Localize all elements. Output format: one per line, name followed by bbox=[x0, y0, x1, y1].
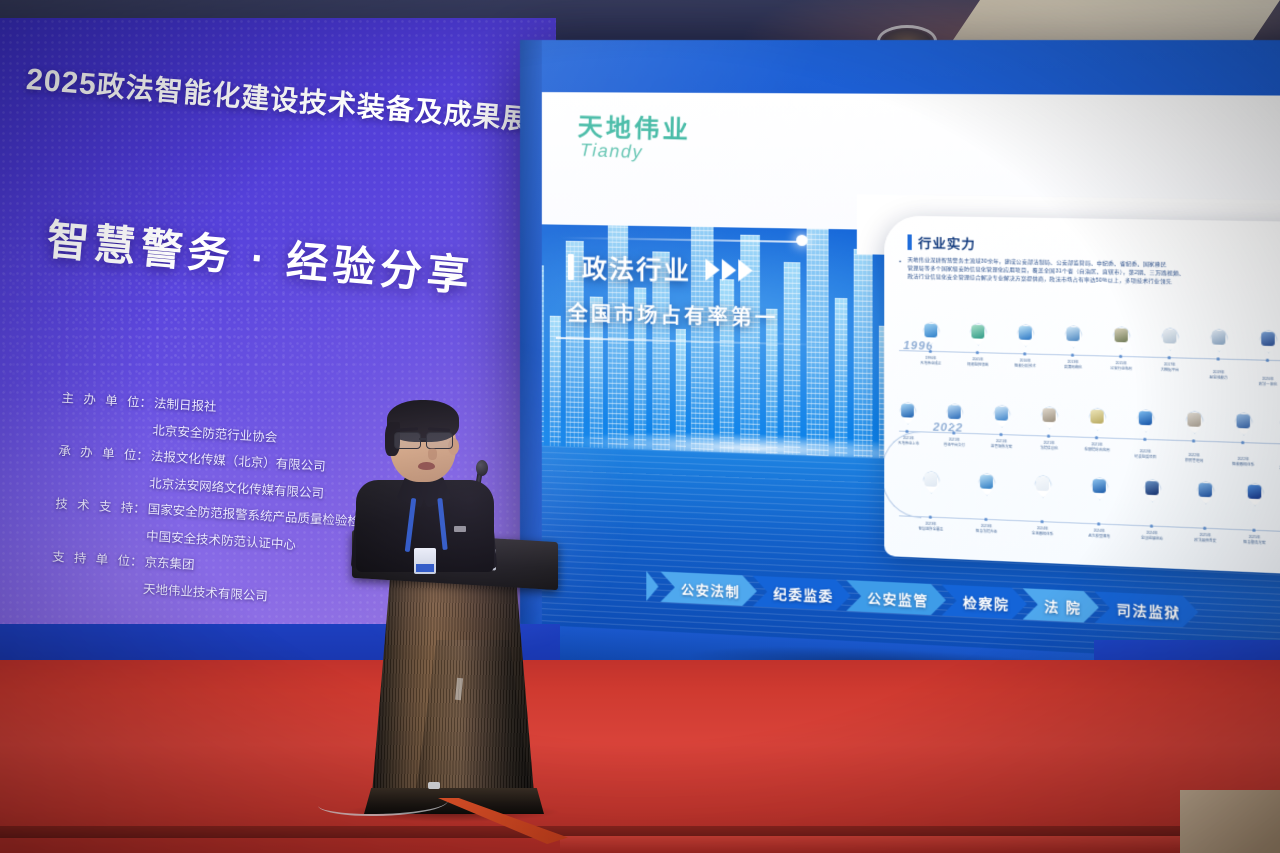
tab-jianchayuan[interactable]: 检察院 bbox=[942, 584, 1027, 619]
credit-value: 法报文化传媒（北京）有限公司 bbox=[150, 450, 325, 473]
podium-body bbox=[372, 580, 534, 794]
credit-row: 技术支持 ： 国家安全防范报警系统产品质量检验检测中心 中国安全技术防范认证中心 bbox=[53, 498, 385, 557]
floor-corner bbox=[1180, 790, 1280, 853]
credit-value: 北京安全防范行业协会 bbox=[152, 424, 278, 444]
tab-sifa-jianyu[interactable]: 司法监狱 bbox=[1095, 592, 1199, 629]
heading-accent-dot-icon bbox=[796, 235, 807, 246]
event-year: 2025 bbox=[25, 63, 98, 102]
red-carpet-stage bbox=[0, 660, 1280, 853]
card-title-bar-icon bbox=[908, 234, 912, 250]
tab-jiwei-jianwei[interactable]: 纪委监委 bbox=[753, 576, 851, 611]
credit-value: 京东集团 bbox=[144, 556, 270, 576]
credit-row: 支持单位 ： 京东集团 天地伟业技术有限公司 bbox=[50, 551, 382, 610]
credit-colon: ： bbox=[138, 397, 153, 437]
chevron-right-icon bbox=[646, 571, 658, 602]
credits-block: 主办单位 ： 法制日报社 北京安全防范行业协会 承办单位 ： 法报文化传媒（北京… bbox=[49, 392, 391, 623]
chevron-right-icon bbox=[705, 259, 752, 282]
credit-value: 天地伟业技术有限公司 bbox=[143, 583, 269, 603]
industry-strength-card: 行业实力 • 天地伟业深耕智慧警务主流域30余年，建成公安部法制局、公安部监管局… bbox=[884, 215, 1280, 575]
credit-label: 技术支持 bbox=[53, 498, 133, 542]
tiandy-logo-en: Tiandy bbox=[580, 140, 644, 163]
tab-gongan-jianguan[interactable]: 公安监管 bbox=[846, 580, 945, 616]
badge bbox=[414, 548, 436, 574]
credit-colon: ： bbox=[131, 502, 146, 542]
tab-gongan-fazhi[interactable]: 公安法制 bbox=[661, 571, 757, 606]
cable-plug bbox=[428, 782, 440, 789]
speaker-podium: 国家会议中心 CHINA NATIONAL CONVENTION CENTER bbox=[352, 536, 558, 828]
heading-bar-icon bbox=[568, 254, 574, 280]
credit-label: 承办单位 bbox=[57, 445, 137, 489]
credit-value: 北京法安网络文化传媒有限公司 bbox=[149, 477, 324, 500]
slide-heading-block: 政法行业 全国市场占有率第一 bbox=[568, 249, 779, 332]
credit-row: 承办单位 ： 法报文化传媒（北京）有限公司 北京法安网络文化传媒有限公司 bbox=[57, 445, 389, 504]
conference-photo-scene: 2025政法智能化建设技术装备及成果展 智慧警务 · 经验分享 主办单位 ： 法… bbox=[0, 0, 1280, 853]
shirt-logo bbox=[454, 526, 466, 532]
presentation-screen: 天地伟业 Tiandy 政法行业 全国市场占有率第一 行业实力 bbox=[520, 40, 1280, 726]
card-body: 天地伟业深耕智慧警务主流域30余年，建成公安部法制局、公安部监管局、中纪委、省纪… bbox=[908, 257, 1280, 290]
tab-fayuan[interactable]: 法 院 bbox=[1023, 588, 1099, 623]
credit-colon: ： bbox=[128, 555, 143, 595]
credit-label: 主办单位 bbox=[60, 392, 140, 436]
credit-colon: ： bbox=[134, 450, 149, 490]
slide-subheading: 全国市场占有率第一 bbox=[568, 297, 779, 331]
speaker-person bbox=[348, 398, 498, 568]
card-title: 行业实力 bbox=[918, 233, 976, 254]
stage-step bbox=[560, 836, 1280, 853]
slide-heading: 政法行业 bbox=[582, 249, 691, 288]
bullet-icon: • bbox=[899, 259, 901, 265]
credit-label: 支持单位 bbox=[50, 551, 130, 595]
company-timeline: 1996 2022 bbox=[884, 315, 1280, 574]
glasses-icon bbox=[394, 432, 456, 449]
